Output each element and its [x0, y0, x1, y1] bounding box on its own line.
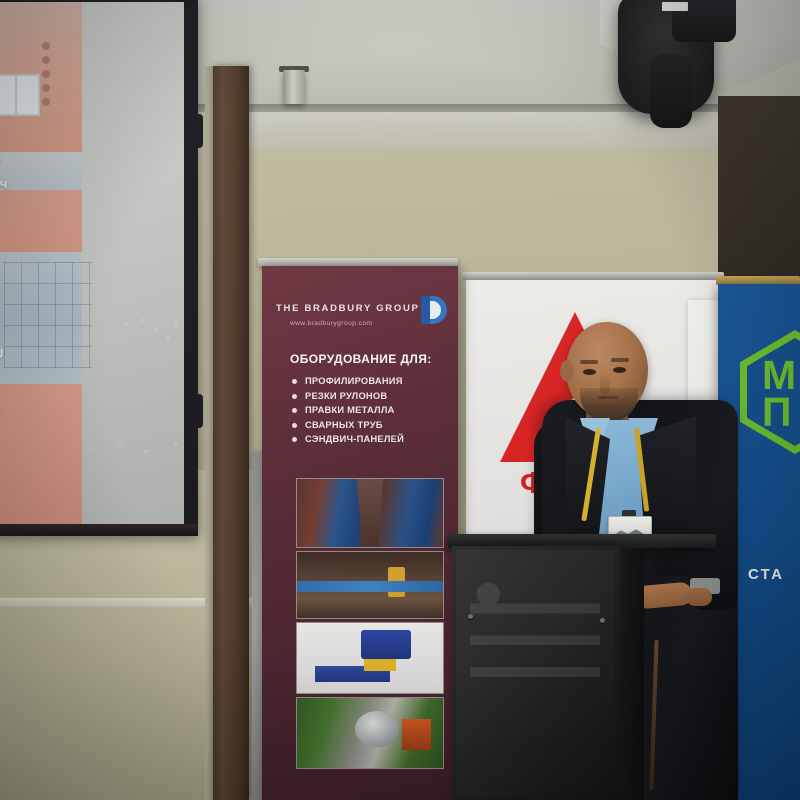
slide-band-bottom: [0, 384, 82, 524]
wall-upper-strip: [205, 112, 800, 148]
bradbury-logo-text: THE BRADBURY GROUP: [276, 303, 436, 314]
bradbury-photo-4: [296, 697, 444, 769]
speaker-mouth: [598, 396, 618, 399]
slide-building-grid: [4, 262, 92, 368]
blue-banner-caption: СТА: [748, 566, 784, 583]
speaker-hand-secondary: [686, 588, 712, 606]
bradbury-logo-mark-icon: [421, 296, 447, 324]
conference-room-photo: еррум» ирович И-N.RU нке и ФЕ М П СТА TH…: [0, 0, 800, 800]
slide-text-line-2: ирович: [0, 176, 7, 191]
speaker-ear: [560, 360, 574, 382]
podium-side-panel: [620, 548, 644, 800]
list-item: СВАРНЫХ ТРУБ: [292, 418, 444, 433]
slide-band-mid: [0, 190, 82, 252]
podium-screw-right: [600, 618, 605, 623]
wooden-pillar: [213, 66, 249, 800]
screen-glare-specks: [120, 318, 190, 346]
list-item: РЕЗКИ РУЛОНОВ: [292, 389, 444, 404]
list-item: СЭНДВИЧ-ПАНЕЛЕЙ: [292, 432, 444, 447]
bradbury-website-text: www.bradburygroup.com: [290, 320, 430, 327]
blue-banner-letter-2: П: [762, 392, 791, 433]
screen-glare-specks-2: [80, 440, 190, 462]
speaker-eye-right: [613, 367, 626, 373]
bradbury-photo-3: [296, 622, 444, 694]
slide-photo-strip-1: [0, 152, 82, 190]
projector-arm: [650, 54, 692, 128]
slide-url-text: И-N.RU: [0, 346, 3, 361]
podium-screw-left: [468, 614, 473, 619]
speaker-eyebrow-right: [611, 358, 629, 362]
wall-dark-recess: [718, 96, 800, 306]
podium-logo-faint: [470, 572, 600, 694]
speaker-eyebrow-left: [580, 360, 598, 364]
slide-bullet-dots: [42, 42, 50, 112]
list-item: ПРАВКИ МЕТАЛЛА: [292, 403, 444, 418]
slide-window-graphic: [0, 74, 40, 116]
projector-label: [662, 2, 688, 11]
speaker-eye-left: [583, 369, 596, 375]
white-banner-rail: [462, 272, 724, 280]
bradbury-heading: ОБОРУДОВАНИЕ ДЛЯ:: [290, 352, 440, 366]
bradbury-bullet-list: ПРОФИЛИРОВАНИЯ РЕЗКИ РУЛОНОВ ПРАВКИ МЕТА…: [292, 374, 444, 447]
slide-text-line-1: еррум»: [0, 152, 1, 167]
ceiling-downlight-icon: [283, 70, 305, 104]
bradbury-photo-1: [296, 478, 444, 548]
bradbury-photo-2: [296, 551, 444, 619]
list-item: ПРОФИЛИРОВАНИЯ: [292, 374, 444, 389]
projection-screen-bottom-bar: [0, 524, 198, 536]
